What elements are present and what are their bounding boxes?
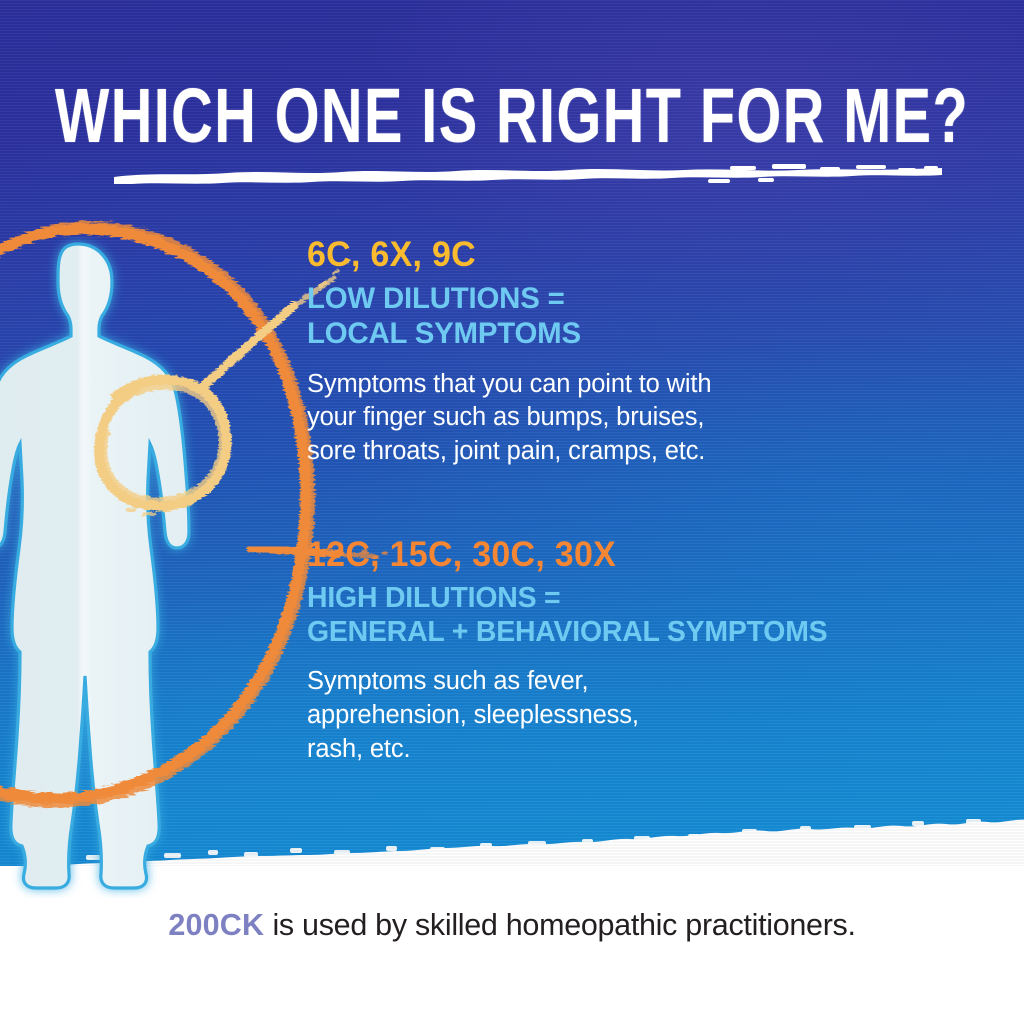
dilution-body-high: Symptoms such as fever, apprehension, sl… [307,665,838,767]
footer-dilution-code: 200CK [168,908,264,942]
footer-note-text: is used by skilled homeopathic practitio… [264,908,855,942]
dilution-body-low: Symptoms that you can point to with your… [307,368,711,470]
dilution-body-low-line2: your finger such as bumps, bruises, [307,403,704,431]
dilution-block-low: 6C, 6X, 9C LOW DILUTIONS = LOCAL SYMPTOM… [307,237,711,469]
dilution-body-low-line1: Symptoms that you can point to with [307,370,711,398]
dilution-subhead-low-line2: LOCAL SYMPTOMS [307,317,581,350]
dilution-body-low-line3: sore throats, joint pain, cramps, etc. [307,437,705,465]
dilution-body-high-line1: Symptoms such as fever, [307,667,588,695]
dilution-subhead-high: HIGH DILUTIONS = GENERAL + BEHAVIORAL SY… [307,581,827,649]
page-title: WHICH ONE IS RIGHT FOR ME? [20,78,1003,155]
dilution-subhead-low-line1: LOW DILUTIONS = [307,282,565,315]
dilution-subhead-low: LOW DILUTIONS = LOCAL SYMPTOMS [307,281,703,352]
dilution-block-high: 12C, 15C, 30C, 30X HIGH DILUTIONS = GENE… [307,537,838,767]
human-body-silhouette [0,236,208,898]
dilution-subhead-high-line2: GENERAL + BEHAVIORAL SYMPTOMS [307,616,827,648]
footer-note: 200CK is used by skilled homeopathic pra… [0,908,1024,943]
dilution-code-high: 12C, 15C, 30C, 30X [307,537,822,574]
infographic-poster: WHICH ONE IS RIGHT FOR ME? [0,0,1024,1024]
dilution-subhead-high-line1: HIGH DILUTIONS = [307,582,560,614]
dilution-body-high-line3: rash, etc. [307,735,410,763]
dilution-code-low: 6C, 6X, 9C [307,237,699,274]
dilution-body-high-line2: apprehension, sleeplessness, [307,701,639,729]
